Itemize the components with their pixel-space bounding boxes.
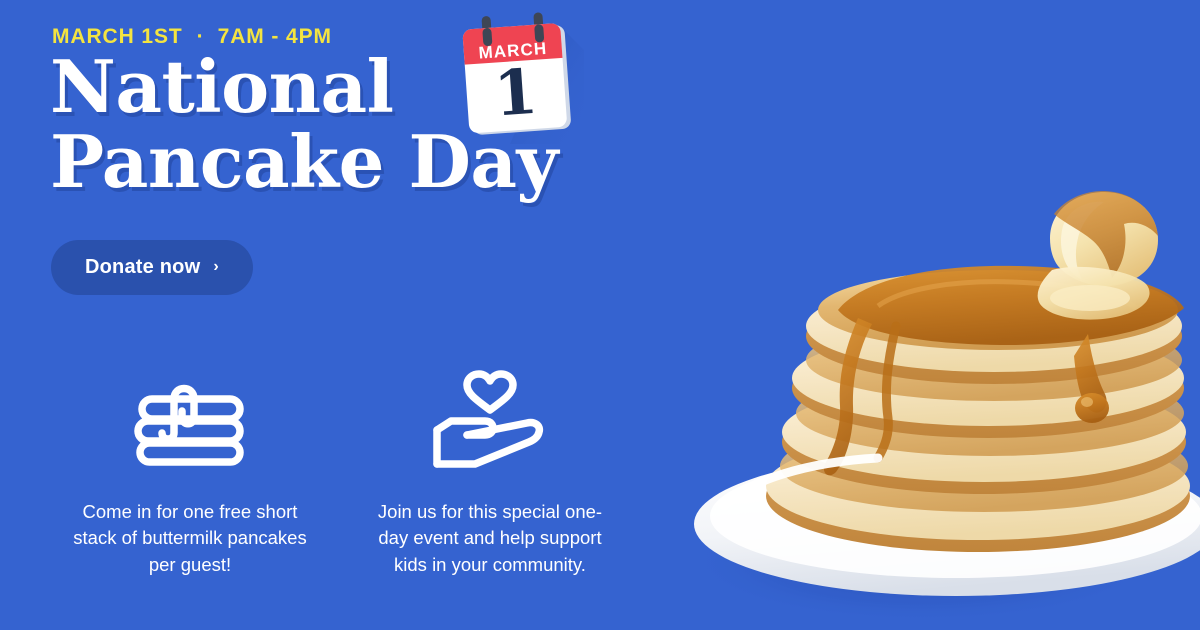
- feature-text-support-kids: Join us for this special one-day event a…: [373, 499, 608, 578]
- calendar-icon: MARCH 1: [452, 6, 584, 151]
- hand-holding-heart-icon: [429, 368, 551, 474]
- chevron-right-icon: ›: [213, 259, 218, 275]
- pancake-stack-photo: [688, 166, 1200, 630]
- pancake-stack-icon: [132, 368, 248, 474]
- promo-banner: MARCH 1ST · 7AM - 4PM National Pancake D…: [0, 0, 1200, 630]
- banner-content: MARCH 1ST · 7AM - 4PM National Pancake D…: [0, 0, 700, 630]
- calendar-day-number: 1: [492, 55, 540, 131]
- donate-now-label: Donate now: [85, 256, 200, 279]
- feature-text-free-pancakes: Come in for one free short stack of butt…: [73, 499, 308, 578]
- donate-now-button[interactable]: Donate now ›: [51, 240, 253, 295]
- feature-item-support-kids: Join us for this special one-day event a…: [340, 368, 640, 578]
- feature-item-free-pancakes: Come in for one free short stack of butt…: [40, 368, 340, 578]
- feature-list: Come in for one free short stack of butt…: [40, 368, 660, 578]
